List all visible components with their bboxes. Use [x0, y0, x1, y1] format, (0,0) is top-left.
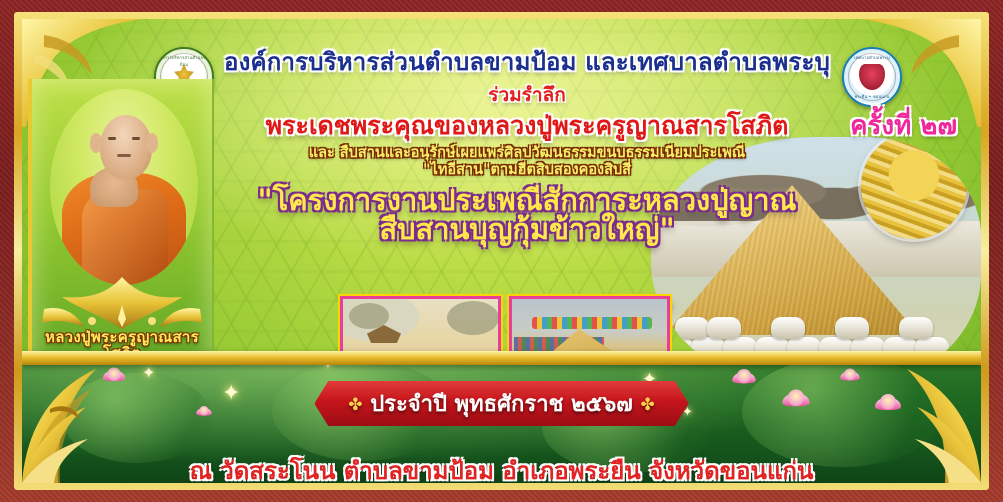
- purpose-line-1: และ สืบสานและอนุรักษ์เผยแพร่ศิลปวัฒนธรรม…: [212, 145, 842, 162]
- lotus-flower-icon: [866, 387, 910, 421]
- year-plaque-text: ✤ ประจำปี พุทธศักราช ๒๕๖๗ ✤: [348, 386, 654, 421]
- monk-face: [108, 137, 140, 163]
- location-line: ณ วัดสระโนน ตำบลขามป้อม อำเภอพระยืน จังห…: [22, 451, 981, 483]
- monk-ear: [90, 133, 102, 153]
- diamond-ornament-icon: ✤: [348, 395, 362, 415]
- gold-ribbon-divider: [22, 351, 981, 365]
- portrait-oval-frame: [50, 89, 198, 285]
- event-banner: องค์การบริหารส่วนตำบลขามป้อม พระยืน • ขอ…: [0, 0, 1003, 502]
- banner-stage: องค์การบริหารส่วนตำบลขามป้อม พระยืน • ขอ…: [22, 19, 981, 483]
- monk-eye: [108, 137, 116, 140]
- edition-badge: ครั้งที่ ๒๗: [850, 105, 957, 146]
- bunting-flags: [532, 317, 652, 329]
- purpose-line-2: "ไทอีสาน"ตามฮีตสิบสองคองสิบสี่: [212, 162, 842, 179]
- rice-sack: [675, 317, 709, 339]
- year-label: ประจำปี พุทธศักราช ๒๕๖๗: [370, 392, 633, 417]
- rice-sack: [899, 317, 933, 339]
- diamond-ornament-icon: ✤: [640, 395, 654, 415]
- rice-sack: [707, 317, 741, 339]
- monk-ear: [146, 133, 158, 153]
- monk-eye: [132, 137, 140, 140]
- rice-sack: [771, 317, 805, 339]
- project-title-line-2: สืบสานบุญกุ้มข้าวใหญ่": [212, 214, 842, 246]
- mural-tree: [349, 303, 389, 329]
- monk-mouth: [117, 154, 131, 157]
- lotus-leaf: [62, 373, 212, 463]
- lotus-flower-icon: [191, 402, 217, 422]
- monk-portrait-panel: หลวงปู่พระครูญาณสารโสภิต อดีต เจ้าคณะอำเ…: [28, 79, 214, 379]
- rice-stalks-inset: [861, 137, 967, 239]
- seal-caption-bottom: พระยืน • ขอนแก่น: [844, 93, 900, 100]
- rice-sack: [835, 317, 869, 339]
- thesaban-phrabu-seal-logo: เทศบาลตำบลพระบุ พระยืน • ขอนแก่น: [842, 47, 902, 107]
- organizations-title: องค์การบริหารส่วนตำบลขามป้อม และเทศบาลตำ…: [212, 49, 842, 76]
- sparkle-icon: ✦: [142, 363, 155, 382]
- lotus-flower-icon: [834, 363, 867, 389]
- lotus-flower-icon: [773, 382, 819, 418]
- honoree-title: พระเดชพระคุณของหลวงปู่พระครูญาณสารโสภิต: [212, 112, 842, 140]
- commemoration-subtitle: ร่วมรำลึก: [212, 80, 842, 110]
- lotus-flower-icon: [95, 362, 132, 391]
- year-plaque: ✤ ประจำปี พุทธศักราช ๒๕๖๗ ✤: [314, 381, 688, 426]
- headline-block: องค์การบริหารส่วนตำบลขามป้อม และเทศบาลตำ…: [212, 49, 842, 246]
- seal-caption-top: เทศบาลตำบลพระบุ: [844, 54, 900, 61]
- mural-tree: [447, 301, 499, 335]
- lotus-flower-icon: [724, 363, 764, 394]
- sparkle-icon: ✦: [222, 381, 240, 406]
